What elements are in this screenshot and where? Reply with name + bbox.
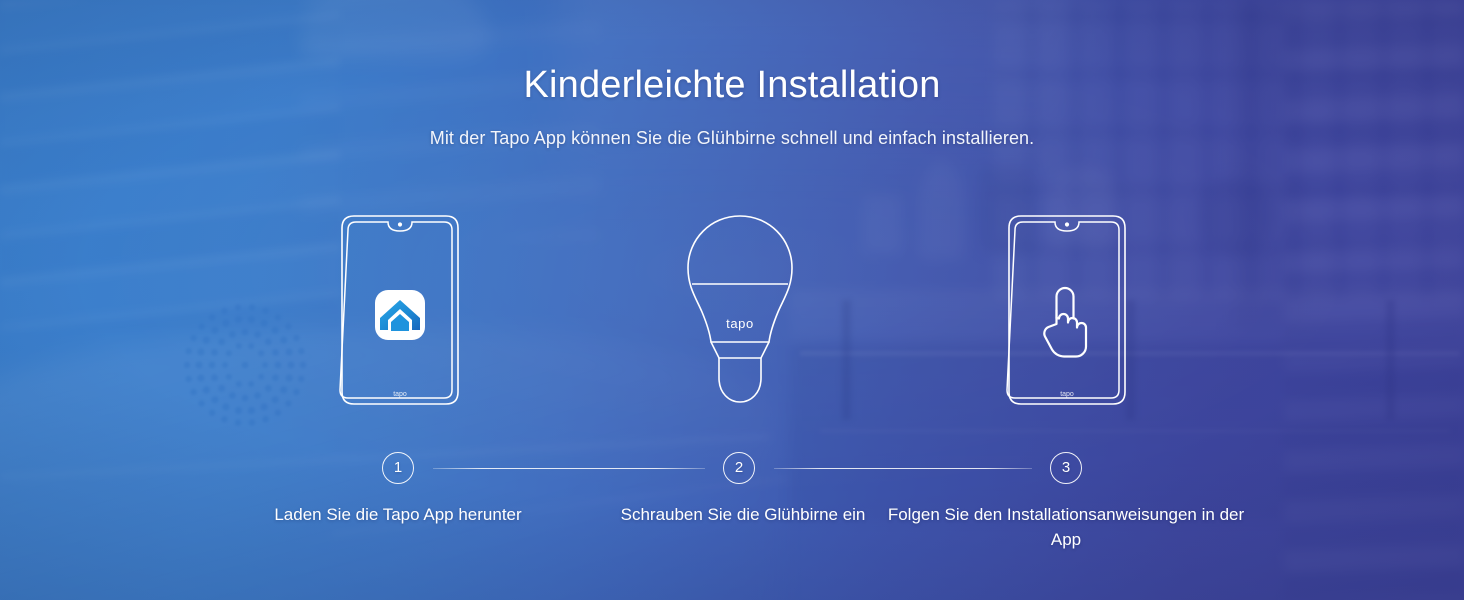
figure-smart-bulb: tapo — [672, 210, 808, 415]
step-number-3: 3 — [1050, 452, 1082, 484]
page-subtitle: Mit der Tapo App können Sie die Glühbirn… — [0, 128, 1464, 149]
illustration-row: tapo — [0, 210, 1464, 425]
page-title: Kinderleichte Installation — [0, 64, 1464, 107]
step-label-2: Schrauben Sie die Glühbirne ein — [613, 502, 873, 527]
step-number-1: 1 — [382, 452, 414, 484]
figure-phone-tap: tapo — [1003, 210, 1131, 415]
banner-content: Kinderleichte Installation Mit der Tapo … — [0, 0, 1464, 600]
tapo-home-app-icon — [375, 290, 425, 340]
step-number-2: 2 — [723, 452, 755, 484]
phone-brand-label: tapo — [393, 391, 407, 398]
step-connector-2-3 — [774, 468, 1032, 469]
light-bulb-outline-icon: tapo — [672, 210, 808, 410]
step-connector-1-2 — [433, 468, 705, 469]
step-markers: 1 2 3 — [0, 452, 1464, 488]
phone-brand-label: tapo — [1060, 391, 1074, 398]
steps-row: 1 2 3 Laden Sie die Tapo App herunter Sc… — [0, 452, 1464, 562]
phone-camera-dot — [398, 222, 402, 226]
phone-with-tap-gesture: tapo — [1003, 210, 1131, 410]
figure-phone-app: tapo — [336, 210, 464, 415]
promo-banner: Kinderleichte Installation Mit der Tapo … — [0, 0, 1464, 600]
step-label-3: Folgen Sie den Installationsanweisungen … — [880, 502, 1252, 552]
step-label-1: Laden Sie die Tapo App herunter — [268, 502, 528, 527]
phone-with-tapo-app-icon: tapo — [336, 210, 464, 410]
tap-hand-icon — [1044, 288, 1086, 357]
phone-camera-dot — [1065, 222, 1069, 226]
bulb-brand-label: tapo — [726, 316, 754, 331]
